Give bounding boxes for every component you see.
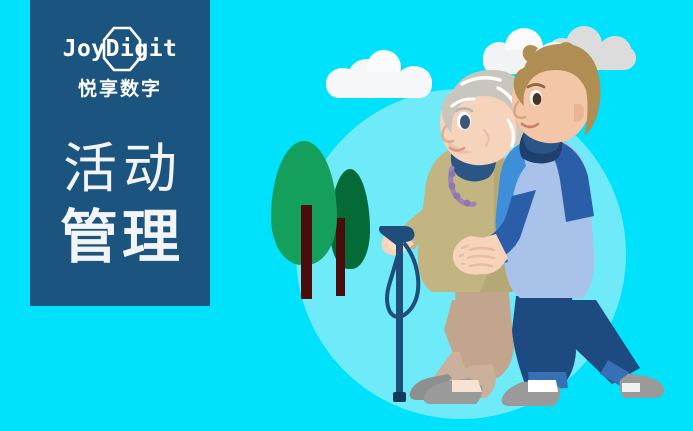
logo-subtitle: 悦享数字: [30, 77, 210, 101]
page-title-line-1: 活动: [30, 136, 210, 202]
title-panel: JoyDigit 悦享数字 活动 管理: [30, 0, 210, 306]
logo-wordmark: JoyDigit: [30, 35, 210, 63]
page-title-line-2: 管理: [30, 202, 210, 272]
page-title: 活动 管理: [30, 136, 210, 272]
brand-logo: JoyDigit 悦享数字: [30, 26, 210, 101]
logo-mark: JoyDigit: [30, 26, 210, 72]
poster-canvas: JoyDigit 悦享数字 活动 管理: [0, 0, 693, 431]
walking-cane-icon: [379, 226, 418, 402]
